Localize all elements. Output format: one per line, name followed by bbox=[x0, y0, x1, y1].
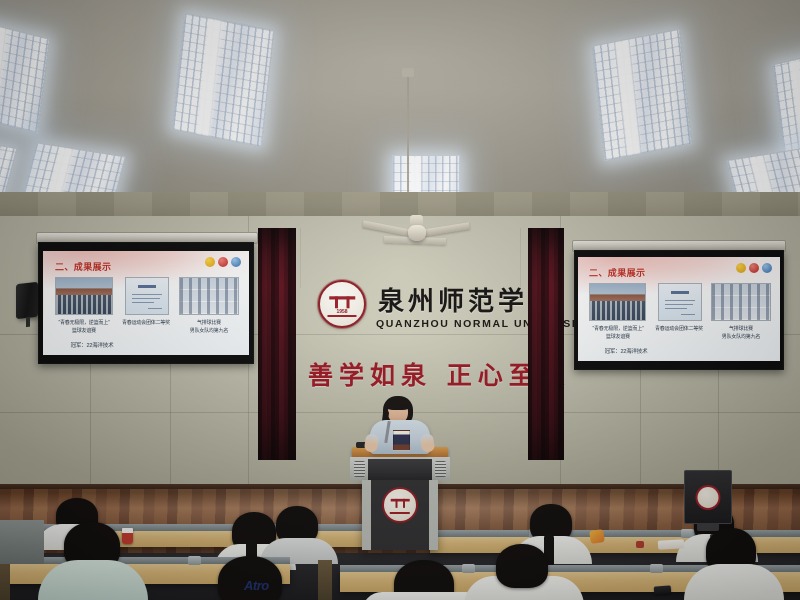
side-display-monitor bbox=[684, 470, 732, 524]
left-projection-screen[interactable]: 二、成果展示 “青春无极限，逆篮而上” 篮球友谊赛 青春运动会团体二等奖 气排球… bbox=[38, 242, 254, 364]
red-seal-logo-icon bbox=[749, 263, 759, 273]
caption-1-line2: 篮球友谊赛 bbox=[49, 327, 119, 334]
caption-3-line2: 男队女队均第九名 bbox=[178, 327, 240, 334]
slide-title: 二、成果展示 bbox=[589, 266, 645, 279]
slide-logo-group bbox=[736, 263, 772, 273]
basketball-group-photo bbox=[55, 277, 113, 315]
stage-curtain-left bbox=[258, 228, 296, 460]
caption-1-line1: “青春无极限，逆篮而上” bbox=[49, 319, 119, 326]
honor-certificate bbox=[658, 283, 702, 321]
ceiling-light-3 bbox=[592, 29, 692, 162]
caption-2-line1: 青春运动会团体二等奖 bbox=[649, 325, 709, 332]
desk-paper bbox=[658, 539, 684, 549]
audience-head-10 bbox=[496, 544, 548, 588]
blue-seal-logo-icon bbox=[231, 257, 241, 267]
team-roster-photos bbox=[179, 277, 239, 315]
presenter-right-arm bbox=[420, 433, 436, 453]
snack-bag bbox=[589, 529, 605, 544]
caption-3-line2: 男队女队均第九名 bbox=[710, 333, 772, 340]
left-slide: 二、成果展示 “青春无极限，逆篮而上” 篮球友谊赛 青春运动会团体二等奖 气排球… bbox=[43, 251, 249, 355]
gold-badge-logo-icon bbox=[736, 263, 746, 273]
caption-1-line2: 篮球友谊赛 bbox=[583, 333, 653, 340]
tshirt-text: Atro bbox=[244, 578, 269, 593]
caption-3-line1: 气排球比赛 bbox=[178, 319, 240, 326]
student-presenter bbox=[363, 396, 437, 454]
right-projection-screen[interactable]: 二、成果展示 “青春无极限，逆篮而上” 篮球友谊赛 青春运动会团体二等奖 气排球… bbox=[574, 250, 784, 370]
slide-footnote: 冠军：22海洋技术 bbox=[591, 347, 661, 355]
team-roster-photos bbox=[711, 283, 771, 321]
right-slide: 二、成果展示 “青春无极限，逆篮而上” 篮球友谊赛 青春运动会团体二等奖 气排球… bbox=[578, 257, 780, 361]
presenter-bangs bbox=[386, 399, 410, 410]
university-emblem: 1958 bbox=[318, 280, 366, 328]
drink-cup bbox=[122, 528, 133, 544]
slide-logo-group bbox=[205, 257, 241, 267]
small-item bbox=[636, 541, 644, 548]
caption-3-line1: 气排球比赛 bbox=[710, 325, 772, 332]
desk-divider-1 bbox=[318, 560, 332, 600]
caption-2-line1: 青春运动会团体二等奖 bbox=[116, 319, 176, 326]
gold-badge-logo-icon bbox=[205, 257, 215, 267]
red-seal-logo-icon bbox=[218, 257, 228, 267]
lectern bbox=[350, 447, 450, 550]
smartphone[interactable] bbox=[654, 585, 672, 594]
monitor-stand bbox=[697, 523, 719, 531]
emblem-year: 1958 bbox=[336, 309, 347, 315]
caption-1-line1: “青春无极限，逆篮而上” bbox=[583, 325, 653, 332]
presenter-shirt-graphic bbox=[393, 430, 410, 451]
stage-curtain-right bbox=[528, 228, 564, 460]
lecture-hall-photo: 1958 泉州师范学院 QUANZHOU NORMAL UNIVERSITY 善… bbox=[0, 0, 800, 600]
university-crest bbox=[382, 487, 418, 523]
lectern-front-panel bbox=[368, 459, 432, 481]
left-wall-panel bbox=[0, 520, 44, 564]
blue-seal-logo-icon bbox=[762, 263, 772, 273]
slide-footnote: 冠军：22海洋技术 bbox=[57, 341, 127, 349]
basketball-group-photo bbox=[589, 283, 646, 321]
honor-certificate bbox=[125, 277, 169, 315]
monitor-crest-icon bbox=[696, 485, 721, 510]
speaker-icon bbox=[16, 282, 38, 319]
ceiling-fan-icon bbox=[368, 215, 464, 251]
ceiling-light-2 bbox=[172, 12, 275, 147]
slide-title: 二、成果展示 bbox=[55, 260, 111, 273]
